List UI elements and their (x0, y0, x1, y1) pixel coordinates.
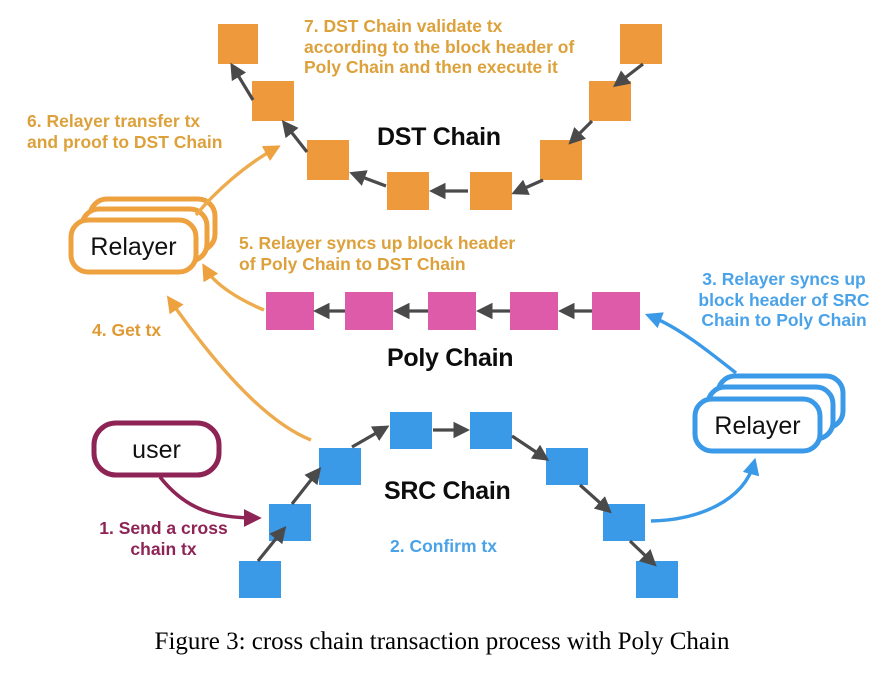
poly-block (428, 292, 476, 330)
dst-block (589, 81, 631, 121)
poly-chain-title: Poly Chain (387, 344, 513, 374)
src-block (546, 448, 588, 485)
poly-block (345, 292, 393, 330)
dst-block (470, 172, 512, 210)
src-block (319, 448, 361, 485)
poly-block (266, 292, 314, 330)
step-6-label: 6. Relayer transfer tx and proof to DST … (27, 111, 277, 152)
relayer-blue-label: Relayer (695, 412, 820, 441)
dst-block (540, 140, 582, 180)
dst-chain-title: DST Chain (377, 123, 501, 153)
step-7-label: 7. DST Chain validate tx according to th… (304, 16, 604, 78)
step-1-label: 1. Send a cross chain tx (76, 518, 251, 559)
src-block (269, 504, 311, 541)
dst-block (307, 140, 349, 180)
figure-caption: Figure 3: cross chain transaction proces… (0, 628, 884, 656)
poly-block (592, 292, 640, 330)
src-chain-title: SRC Chain (384, 477, 510, 507)
dst-block (218, 24, 258, 64)
src-block (603, 504, 645, 541)
step1-arrow (160, 477, 256, 518)
step5-arrow (205, 268, 264, 310)
src-block (470, 412, 512, 449)
step-3-label: 3. Relayer syncs up block header of SRC … (684, 269, 884, 331)
src-block (636, 561, 678, 598)
src-block (239, 561, 281, 598)
step-5-label: 5. Relayer syncs up block header of Poly… (239, 233, 539, 274)
dst-block (620, 24, 662, 64)
step-4-label: 4. Get tx (92, 320, 242, 341)
step2-arrow (651, 463, 754, 521)
src-block (390, 412, 432, 449)
dst-block (387, 172, 429, 210)
user-label: user (94, 436, 219, 465)
figure-container: Relayer Relayer user DST Chain Poly Chai… (0, 0, 884, 676)
relayer-orange-label: Relayer (71, 233, 196, 262)
poly-block (510, 292, 558, 330)
step-2-label: 2. Confirm tx (390, 536, 590, 557)
